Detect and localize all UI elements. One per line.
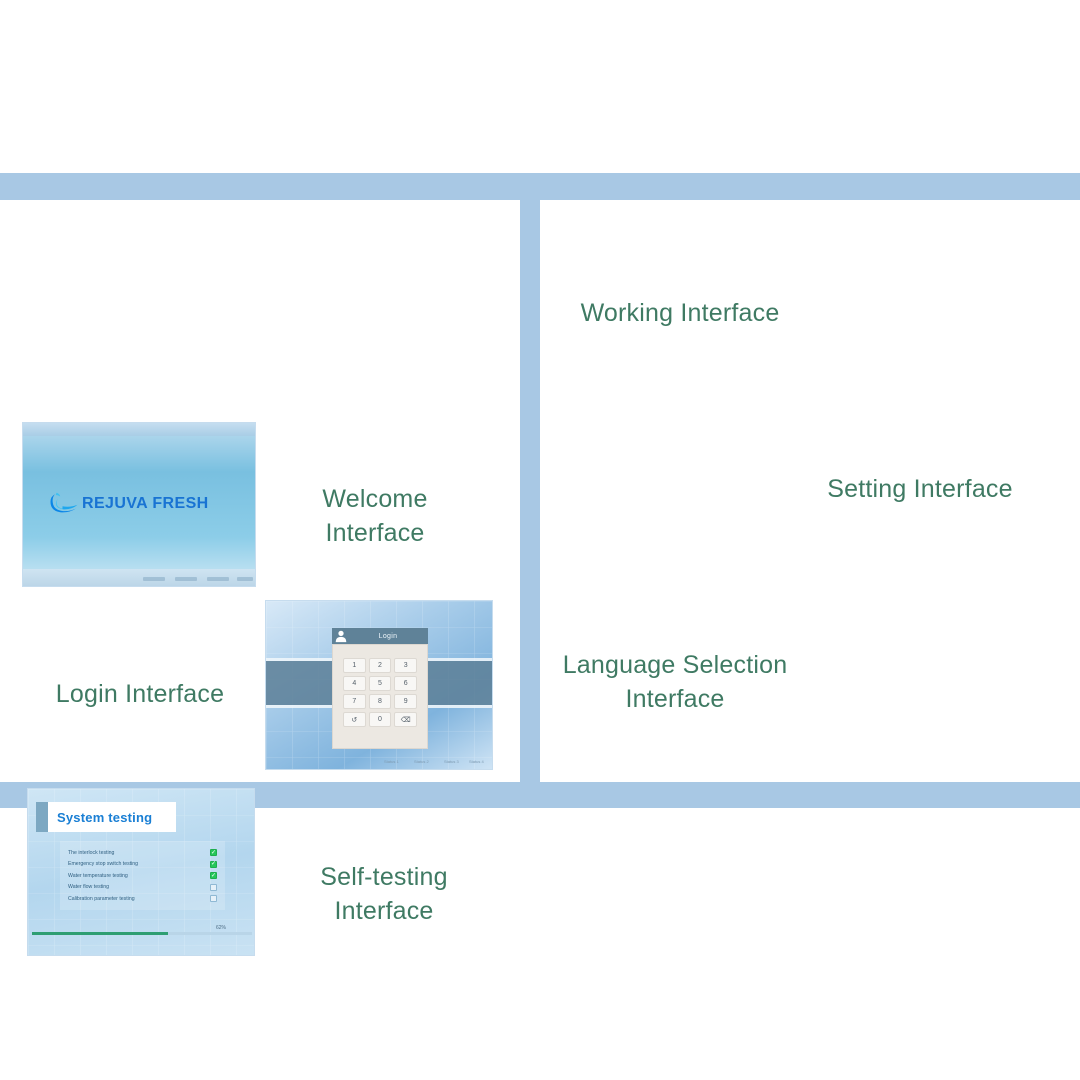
- checklist-checkbox: ✓: [210, 872, 217, 879]
- login-keypad-keys: 1 2 3 4 5 6 7 8 9 ↺ 0 ⌫: [333, 645, 427, 740]
- person-icon: [334, 629, 348, 643]
- login-key-backspace[interactable]: ⌫: [394, 712, 417, 727]
- logo-text: REJUVA FRESH: [82, 495, 209, 513]
- login-key[interactable]: 4: [343, 676, 366, 691]
- login-key[interactable]: 6: [394, 676, 417, 691]
- checklist-label: Emergency stop switch testing: [68, 861, 138, 867]
- checklist-row: The interlock testing ✓: [68, 847, 217, 859]
- selftest-header: System testing: [36, 802, 176, 832]
- login-key-clear[interactable]: ↺: [343, 712, 366, 727]
- checklist-checkbox: [210, 884, 217, 891]
- login-key[interactable]: 1: [343, 658, 366, 673]
- checklist-label: The interlock testing: [68, 850, 114, 856]
- login-key[interactable]: 8: [369, 694, 392, 709]
- panel-divider: [520, 173, 540, 808]
- checklist-row: Calibration parameter testing: [68, 893, 217, 905]
- top-accent-band: [0, 173, 1080, 200]
- slide-canvas: REJUVA FRESH Welcome Interface: [0, 0, 1080, 1080]
- login-title-label: Login: [348, 633, 428, 640]
- welcome-top-bar: [23, 423, 255, 436]
- checklist-row: Water temperature testing ✓: [68, 870, 217, 882]
- caption-login: Login Interface: [30, 677, 250, 711]
- header-accent-bar: [36, 802, 48, 832]
- selftest-title: System testing: [48, 810, 152, 825]
- caption-setting: Setting Interface: [800, 472, 1040, 506]
- checklist-row: Water flow testing: [68, 882, 217, 894]
- checklist-checkbox: ✓: [210, 849, 217, 856]
- caption-welcome: Welcome Interface: [270, 482, 480, 550]
- checklist-label: Water temperature testing: [68, 873, 128, 879]
- checklist-checkbox: [210, 895, 217, 902]
- caption-selftest: Self-testing Interface: [268, 860, 500, 928]
- selftesting-interface-screenshot: System testing The interlock testing ✓ E…: [27, 788, 255, 956]
- caption-language: Language Selection Interface: [550, 648, 800, 716]
- checklist-label: Calibration parameter testing: [68, 896, 135, 902]
- right-panel: Working Interface SOLLIFT MEDICAL LASER: [540, 200, 1050, 782]
- selftest-checklist: The interlock testing ✓ Emergency stop s…: [60, 841, 225, 910]
- caption-working: Working Interface: [560, 296, 800, 330]
- login-key[interactable]: 7: [343, 694, 366, 709]
- login-status-item: Status 1: [384, 759, 399, 764]
- login-key[interactable]: 9: [394, 694, 417, 709]
- login-key[interactable]: 0: [369, 712, 392, 727]
- login-key[interactable]: 2: [369, 658, 392, 673]
- login-key[interactable]: 3: [394, 658, 417, 673]
- login-key[interactable]: 5: [369, 676, 392, 691]
- login-keypad[interactable]: 1 2 3 4 5 6 7 8 9 ↺ 0 ⌫: [332, 644, 428, 749]
- left-panel: REJUVA FRESH Welcome Interface: [10, 200, 510, 782]
- wave-logo-icon: [49, 491, 79, 517]
- checklist-checkbox: ✓: [210, 861, 217, 868]
- progress-percent-label: 62%: [216, 925, 226, 931]
- login-status-item: Status 4: [469, 759, 484, 764]
- checklist-row: Emergency stop switch testing ✓: [68, 859, 217, 871]
- welcome-status-bar: [23, 569, 255, 586]
- rejuva-fresh-logo: REJUVA FRESH: [49, 491, 209, 517]
- login-status-item: Status 2: [414, 759, 429, 764]
- login-title-bar: Login: [332, 628, 428, 644]
- welcome-interface-screenshot: REJUVA FRESH: [22, 422, 256, 587]
- selftest-progress-bar: [32, 932, 252, 935]
- login-interface-screenshot: Login 1 2 3 4 5 6 7 8 9 ↺ 0 ⌫: [265, 600, 493, 770]
- checklist-label: Water flow testing: [68, 884, 109, 890]
- login-status-item: Status 3: [444, 759, 459, 764]
- progress-fill: [32, 932, 168, 935]
- login-status-bar: Status 1 Status 2 Status 3 Status 4: [266, 753, 492, 769]
